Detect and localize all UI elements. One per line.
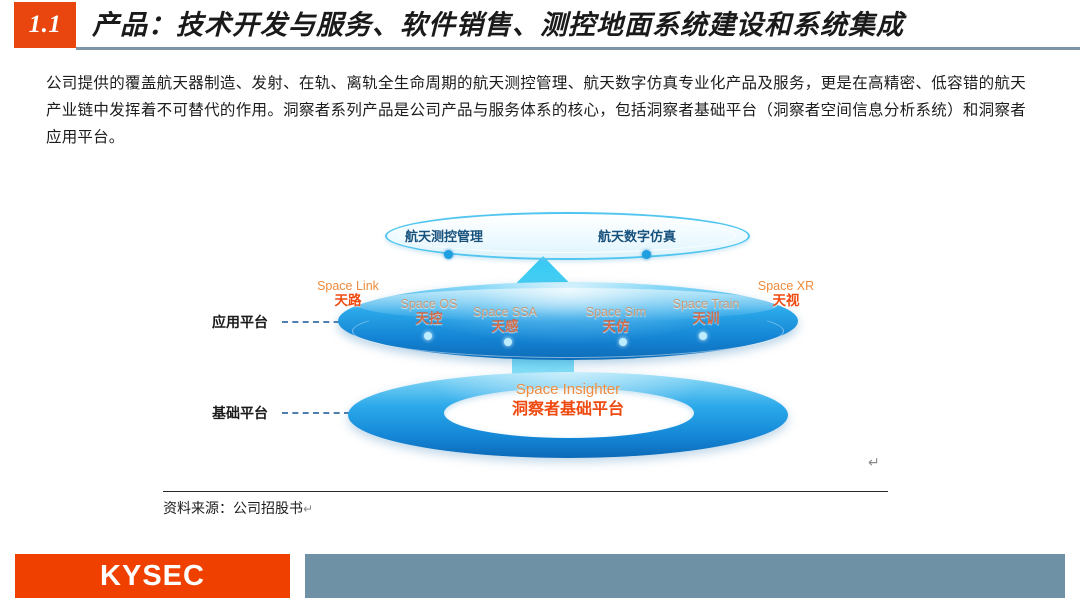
diagram-row-label-base-platform: 基础平台 bbox=[212, 403, 268, 423]
base-platform-label: Space Insighter 洞察者基础平台 bbox=[348, 382, 788, 418]
brand-logo-text: KYSEC bbox=[100, 560, 205, 593]
disc-node bbox=[424, 332, 432, 340]
source-pilcrow-mark: ↵ bbox=[303, 502, 313, 516]
product-en-name: Space Link bbox=[300, 280, 396, 293]
product-cn-name: 天感 bbox=[457, 320, 553, 334]
product-cn-name: 天视 bbox=[740, 294, 832, 308]
top-ring-label-digital-simulation: 航天数字仿真 bbox=[598, 226, 676, 245]
product-label-space-xr: Space XR 天视 bbox=[740, 280, 832, 308]
section-number-badge: 1.1 bbox=[14, 2, 76, 48]
product-label-space-sim: Space Sim 天仿 bbox=[570, 306, 662, 334]
product-en-name: Space Sim bbox=[570, 306, 662, 319]
diagram-row-label-application-platform: 应用平台 bbox=[212, 312, 268, 332]
page-title: 产品：技术开发与服务、软件销售、测控地面系统建设和系统集成 bbox=[92, 3, 904, 42]
product-label-space-ssa: Space SSA 天感 bbox=[457, 306, 553, 334]
intro-paragraph: 公司提供的覆盖航天器制造、发射、在轨、离轨全生命周期的航天测控管理、航天数字仿真… bbox=[46, 70, 1026, 151]
top-ring-label-tracking-control: 航天测控管理 bbox=[405, 226, 483, 245]
source-note-text: 资料来源：公司招股书 bbox=[163, 502, 303, 517]
slide-header: 1.1 产品：技术开发与服务、软件销售、测控地面系统建设和系统集成 bbox=[0, 0, 1080, 52]
dashed-connector-base bbox=[282, 412, 350, 414]
product-cn-name: 天仿 bbox=[570, 320, 662, 334]
stray-pilcrow-mark: ↵ bbox=[868, 455, 880, 471]
product-architecture-diagram: 应用平台 基础平台 航天测控管理 航天数字仿真 Space Link bbox=[160, 190, 920, 460]
footer-accent-bar bbox=[305, 554, 1065, 598]
slide-footer: KYSEC bbox=[0, 546, 1080, 607]
disc-node bbox=[699, 332, 707, 340]
product-en-name: Space SSA bbox=[457, 306, 553, 319]
product-en-name: Space XR bbox=[740, 280, 832, 293]
brand-logo: KYSEC bbox=[15, 554, 290, 598]
source-divider bbox=[163, 491, 888, 492]
source-note: 资料来源：公司招股书↵ bbox=[163, 498, 313, 518]
top-ring-node-left bbox=[444, 250, 453, 259]
base-platform-en-name: Space Insighter bbox=[348, 382, 788, 399]
top-ring-node-right bbox=[642, 250, 651, 259]
disc-node bbox=[619, 338, 627, 346]
top-capability-ring: 航天测控管理 航天数字仿真 bbox=[385, 212, 750, 260]
disc-node bbox=[504, 338, 512, 346]
base-platform-cn-name: 洞察者基础平台 bbox=[348, 401, 788, 419]
title-underline-divider bbox=[76, 47, 1080, 50]
product-cn-name: 天训 bbox=[654, 312, 758, 326]
